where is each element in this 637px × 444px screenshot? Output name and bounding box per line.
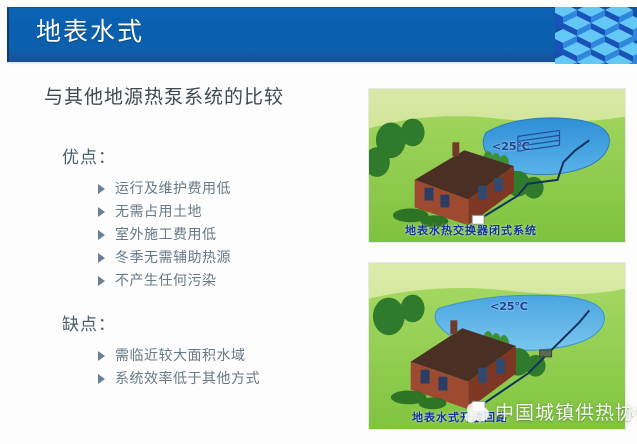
list-item-label: 冬季无需辅助热源 [115,248,231,268]
section-heading: 与其他地源热泵系统的比较 [44,84,284,110]
advantages-title: 优点： [62,146,231,170]
list-item: 系统效率低于其他方式 [98,367,260,390]
advantages-list: 运行及维护费用低 无需占用土地 室外施工费用低 冬季无需辅助热源 不产生任何污染 [62,177,231,292]
watermark: 中国城镇供热协会 [462,398,637,428]
disadvantages-list: 需临近较大面积水域 系统效率低于其他方式 [62,344,260,390]
list-item: 无需占用土地 [98,200,231,223]
slide-root: 地表水式 [0,0,637,444]
title-band-underline [7,62,637,65]
disadvantages-group: 缺点： 需临近较大面积水域 系统效率低于其他方式 [62,313,260,390]
triangle-right-icon [98,276,105,286]
triangle-right-icon [98,351,105,361]
list-item: 室外施工费用低 [98,223,231,246]
advantages-group: 优点： 运行及维护费用低 无需占用土地 室外施工费用低 冬季无需辅助热源 不产生… [62,146,231,292]
triangle-right-icon [98,207,105,217]
closed-loop-diagram-caption: 地表水热交换器闭式系统 [405,222,537,238]
list-item-label: 无需占用土地 [115,202,202,222]
list-item-label: 室外施工费用低 [115,225,217,245]
list-item-label: 不产生任何污染 [115,271,217,291]
page-title: 地表水式 [36,17,144,47]
list-item-label: 运行及维护费用低 [115,179,231,199]
triangle-right-icon [98,374,105,384]
triangle-right-icon [98,184,105,194]
triangle-right-icon [98,253,105,263]
list-item: 运行及维护费用低 [98,177,231,200]
isometric-cubes-pattern-icon [555,7,637,64]
disadvantages-title: 缺点： [62,313,260,337]
triangle-right-icon [98,230,105,240]
closed-loop-surface-water-diagram [368,88,626,243]
list-item: 不产生任何污染 [98,269,231,292]
watermark-label: 中国城镇供热协会 [495,401,637,425]
open-loop-temperature-label: <25℃ [490,300,528,313]
closed-loop-temperature-label: <25℃ [492,140,530,153]
association-logo-icon [462,398,492,428]
list-item-label: 需临近较大面积水域 [115,346,246,366]
list-item: 需临近较大面积水域 [98,344,260,367]
list-item: 冬季无需辅助热源 [98,246,231,269]
list-item-label: 系统效率低于其他方式 [115,369,260,389]
